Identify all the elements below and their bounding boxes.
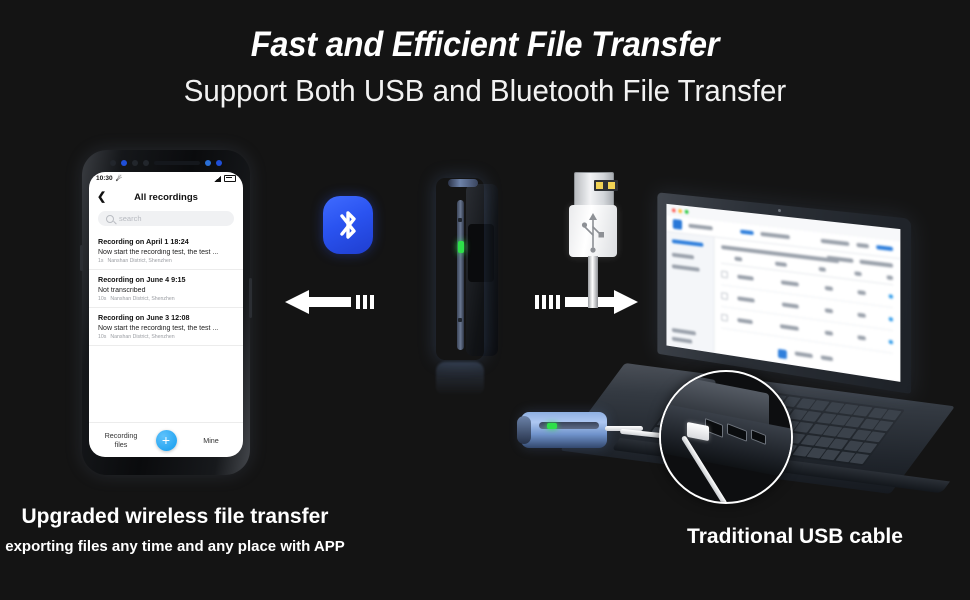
recorder-body — [436, 178, 484, 360]
recorder-mic-hole — [458, 318, 462, 322]
recorder-top-cap — [448, 179, 478, 187]
recording-transcript: Now start the recording test, the test .… — [98, 325, 234, 332]
window-controls — [672, 208, 689, 214]
recording-meta: 10s Nanshan District, Shenzhen — [98, 296, 234, 302]
list-item[interactable]: Recording on June 4 9:15 Not transcribed… — [89, 270, 243, 308]
notch-dot — [143, 160, 149, 166]
recording-duration: 10s — [98, 334, 106, 340]
recording-meta: 1s Nanshan District, Shenzhen — [98, 258, 234, 264]
recording-transcript: Now start the recording test, the test .… — [98, 249, 234, 256]
list-item[interactable]: Recording on June 3 12:08 Now start the … — [89, 308, 243, 346]
phone-screen: 10:30 ☄ ❮ All recordings search — [89, 172, 243, 457]
search-area: search — [89, 209, 243, 232]
page-title: Fast and Efficient File Transfer — [34, 25, 936, 65]
notch-dot — [205, 160, 211, 166]
phone-notch — [92, 156, 240, 170]
recorder-end-cap — [517, 416, 531, 444]
recorder-mic-hole — [458, 218, 462, 222]
recording-title: Recording on April 1 18:24 — [98, 237, 234, 246]
status-bar: 10:30 ☄ — [89, 172, 243, 185]
webcam-icon — [778, 209, 781, 212]
app-logo-icon — [673, 219, 682, 230]
search-input[interactable]: search — [98, 211, 234, 226]
recording-location: Nanshan District, Shenzhen — [110, 296, 174, 302]
page-subtitle: Support Both USB and Bluetooth File Tran… — [24, 73, 946, 109]
close-icon[interactable] — [672, 208, 676, 212]
usb-contact — [608, 182, 615, 189]
recording-location: Nanshan District, Shenzhen — [107, 258, 171, 264]
caption-left-secondary: exporting files any time and any place w… — [0, 538, 350, 555]
tab-recording-files[interactable]: Recording files — [100, 431, 142, 449]
recording-title: Recording on June 3 12:08 — [98, 313, 234, 322]
recording-duration: 10s — [98, 296, 106, 302]
recording-location: Nanshan District, Shenzhen — [110, 334, 174, 340]
bottom-tab-bar: Recording files + Mine — [89, 422, 243, 457]
app-content-table — [715, 237, 901, 381]
status-time: 10:30 — [96, 175, 113, 182]
notch-dot — [121, 160, 127, 166]
recorder-body — [521, 412, 607, 448]
caption-left-primary: Upgraded wireless file transfer — [0, 505, 350, 529]
app-bar: ❮ All recordings — [89, 185, 243, 209]
recorder-led — [547, 423, 557, 429]
notch-dot — [110, 160, 116, 166]
minimize-icon[interactable] — [678, 209, 682, 213]
battery-icon — [224, 175, 236, 182]
phone-mockup: 10:30 ☄ ❮ All recordings search — [82, 150, 250, 475]
recording-duration: 1s — [98, 258, 103, 264]
app-sidebar — [666, 232, 714, 353]
bluetooth-icon — [323, 196, 373, 254]
usb-contact — [596, 182, 603, 189]
app-bar-title: All recordings — [89, 192, 243, 203]
recorder-groove — [457, 200, 464, 350]
usb-a-connector — [562, 172, 632, 302]
arrow-left-icon — [285, 288, 380, 316]
caption-right-primary: Traditional USB cable — [640, 525, 950, 549]
voice-recorder — [428, 172, 508, 372]
bluetooth-icon: ☄ — [116, 175, 122, 183]
maximize-icon[interactable] — [685, 210, 689, 214]
voice-recorder-horizontal — [513, 400, 633, 462]
earpiece-speaker — [154, 161, 200, 165]
usb-housing — [569, 205, 617, 257]
search-icon — [106, 215, 114, 223]
recording-transcript: Not transcribed — [98, 287, 234, 294]
laptop-lid — [657, 192, 911, 394]
usb-port — [751, 429, 766, 445]
recordings-list[interactable]: Recording on April 1 18:24 Now start the… — [89, 232, 243, 422]
usb-cable-wire — [588, 256, 598, 308]
list-item[interactable]: Recording on April 1 18:24 Now start the… — [89, 232, 243, 270]
search-placeholder: search — [119, 214, 142, 223]
tab-mine[interactable]: Mine — [190, 436, 232, 445]
phone-chin — [92, 461, 240, 468]
recorder-reflection — [436, 362, 484, 396]
usb-metal-shell — [574, 172, 614, 208]
marketing-banner: Fast and Efficient File Transfer Support… — [0, 0, 970, 600]
hdmi-port — [727, 423, 747, 442]
recorder-led — [458, 241, 464, 253]
add-recording-button[interactable]: + — [156, 430, 177, 451]
recording-title: Recording on June 4 9:15 — [98, 275, 234, 284]
signal-icon — [214, 176, 221, 182]
laptop-screen — [666, 204, 900, 382]
status-indicators — [214, 175, 236, 182]
recording-meta: 10s Nanshan District, Shenzhen — [98, 334, 234, 340]
desktop-app-window — [666, 204, 900, 382]
notch-dot — [132, 160, 138, 166]
magnifier-circle — [659, 370, 793, 504]
notch-dot — [216, 160, 222, 166]
